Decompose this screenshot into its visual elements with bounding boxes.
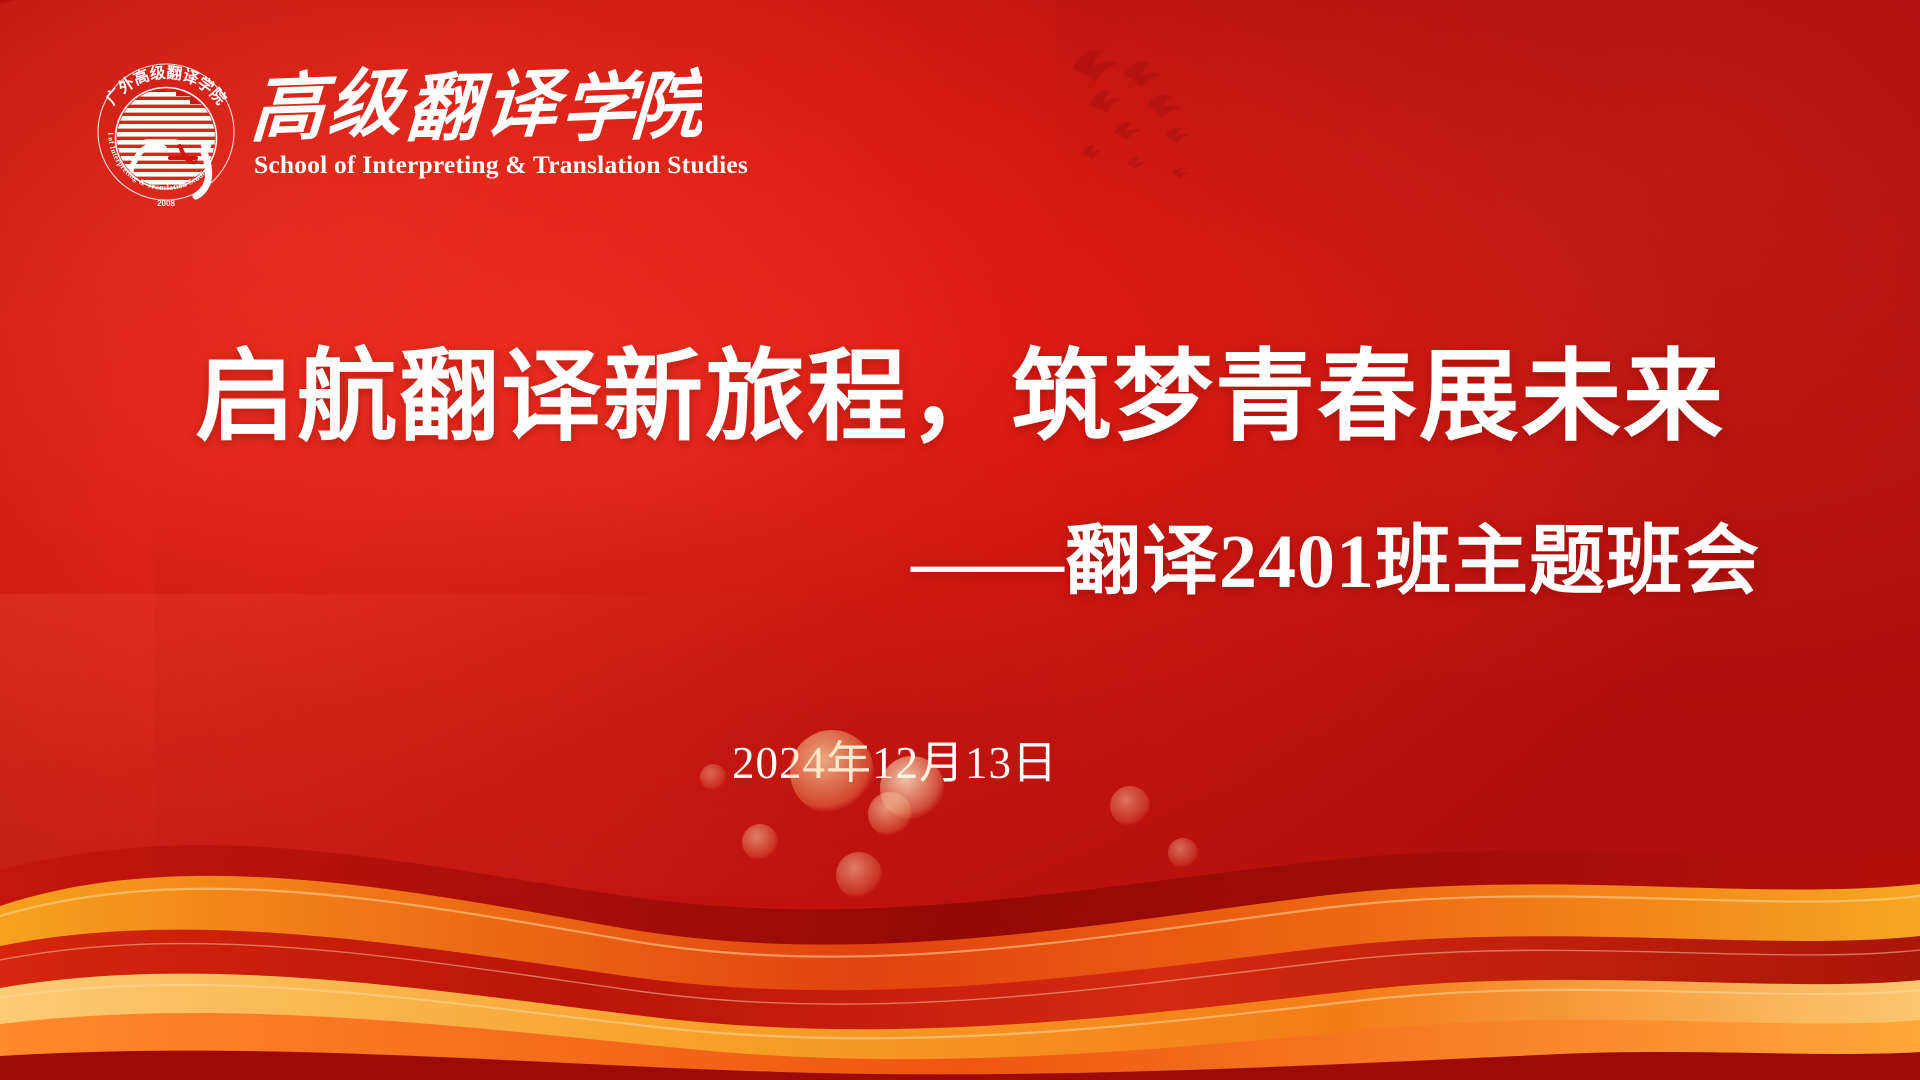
ribbon-wave-graphic — [0, 720, 1920, 1080]
flying-doves-icon — [1060, 50, 1240, 210]
svg-text:级: 级 — [326, 63, 410, 149]
logo-calligraphy-gaojifanyixueyuan: 高 级 翻 译 学 院 — [252, 50, 702, 162]
svg-text:2008: 2008 — [157, 199, 175, 208]
institution-logo: 广外高级翻译学院 GDUFS School of Interpreting & … — [84, 46, 704, 196]
poster-canvas: 广外高级翻译学院 GDUFS School of Interpreting & … — [0, 0, 1920, 1080]
page-title: 启航翻译新旅程，筑梦青春展未来 — [0, 345, 1920, 451]
logo-english-name: School of Interpreting & Translation Stu… — [254, 150, 706, 180]
gdufs-sits-crest-icon: 广外高级翻译学院 GDUFS School of Interpreting & … — [84, 46, 248, 210]
svg-text:译: 译 — [481, 63, 571, 148]
svg-text:高: 高 — [252, 67, 338, 152]
page-subtitle: ——翻译2401班主题班会 — [0, 520, 1920, 605]
svg-text:院: 院 — [629, 65, 702, 150]
svg-text:翻: 翻 — [404, 68, 494, 151]
